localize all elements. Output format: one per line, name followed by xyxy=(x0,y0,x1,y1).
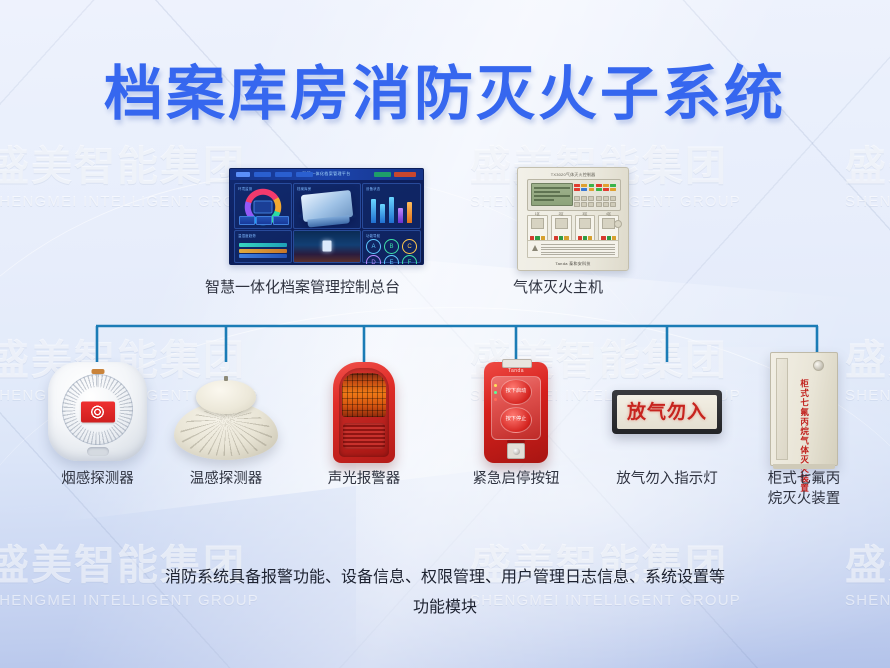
alarm-speaker-grille xyxy=(343,423,385,449)
dashboard-panel-bars: 设备状态 xyxy=(362,183,421,229)
smoke-detector-label xyxy=(81,401,115,422)
smoke-detector-base-clip xyxy=(87,447,109,456)
page-title: 档案库房消防灭火子系统 xyxy=(0,46,890,131)
emergency-button-bracket xyxy=(502,359,532,368)
alarm-led-panel xyxy=(342,373,386,417)
heat-detector-body xyxy=(174,376,278,460)
gas-control-panel: TX3020气体灭火控制器 xyxy=(517,167,629,271)
console-caption: 智慧一体化档案管理控制总台 xyxy=(205,276,400,297)
smoke-detector-led xyxy=(91,369,104,374)
heat-detector-fins xyxy=(180,408,272,456)
caption-sound-light-alarm: 声光报警器 xyxy=(313,470,415,490)
footer-line-2: 功能模块 xyxy=(0,593,890,623)
caption-emergency-button: 紧急启停按钮 xyxy=(464,470,568,490)
lcd-display xyxy=(531,183,573,206)
emergency-button-body: Tanda 按下启动 按下停止 xyxy=(484,362,548,463)
dashboard-panel-3d: 档案库房 xyxy=(293,183,361,229)
gauge-center-value xyxy=(254,200,273,213)
bar-chart xyxy=(369,191,414,223)
poster-canvas: 盛美智能集团 SHENGMEI INTELLIGENT GROUP 盛美智能集团… xyxy=(0,0,890,668)
dashboard-panel-video xyxy=(293,230,361,263)
cabinet-door-edge xyxy=(776,358,788,460)
security-monitor-icon[interactable]: C xyxy=(402,239,417,254)
status-led-row xyxy=(574,184,616,191)
environment-icon[interactable]: D xyxy=(366,255,381,265)
emergency-button-keylock[interactable] xyxy=(507,443,525,459)
emergency-start-button[interactable]: 按下启动 xyxy=(500,379,532,405)
indicator-lamp-body: 放气勿入 xyxy=(612,390,722,434)
dashboard-topbar: 智慧一体化档案管理平台 xyxy=(230,169,423,180)
footer-line-1: 消防系统具备报警功能、设备信息、权限管理、用户管理日志信息、系统设置等 xyxy=(0,563,890,593)
device-emergency-button: Tanda 按下启动 按下停止 xyxy=(484,362,548,463)
indicator-lamp-face: 放气勿入 xyxy=(617,395,717,429)
dashboard-panel-wave: 温湿度趋势 xyxy=(234,230,292,263)
device-smoke-detector xyxy=(48,362,147,461)
alarm-body xyxy=(333,362,395,463)
lcd-and-keys xyxy=(527,179,621,211)
caption-cabinet-extinguisher: 柜式七氟丙 烷灭火装置 xyxy=(748,470,860,509)
caption-release-indicator-lamp: 放气勿入指示灯 xyxy=(600,470,734,490)
connector-tree xyxy=(0,300,890,370)
icon-grid: A B C D E F xyxy=(365,233,418,260)
device-sound-light-alarm xyxy=(333,362,395,463)
fire-system-icon[interactable]: B xyxy=(384,239,399,254)
dashboard-panel-icons: 功能导航 A B C D E F xyxy=(362,230,421,263)
server-3d-model xyxy=(301,190,354,222)
cabinet-base xyxy=(773,464,835,469)
smoke-detector-body xyxy=(48,362,147,461)
gas-host-model-label: TX3020气体灭火控制器 xyxy=(518,172,628,178)
door-access-icon[interactable]: A xyxy=(366,239,381,254)
gas-host-brand: Tanda 泰和安科技 xyxy=(518,261,628,267)
cabinet-lock-icon[interactable] xyxy=(813,360,824,371)
control-console-image: 智慧一体化档案管理平台 环境监测 档案库房 xyxy=(229,168,422,263)
caption-heat-detector: 温感探测器 xyxy=(174,470,278,490)
footer-description: 消防系统具备报警功能、设备信息、权限管理、用户管理日志信息、系统设置等 功能模块 xyxy=(0,563,890,622)
heat-detector-pin xyxy=(224,376,228,381)
emergency-stop-button[interactable]: 按下停止 xyxy=(500,407,532,433)
warning-plate xyxy=(527,240,619,258)
gas-host-caption: 气体灭火主机 xyxy=(513,276,603,297)
gas-host-image: TX3020气体灭火控制器 xyxy=(517,167,627,269)
emergency-button-brand: Tanda xyxy=(484,368,548,374)
area-chart xyxy=(239,236,287,258)
warning-text-lines xyxy=(541,244,615,255)
cabinet-body: 柜式七氟丙烷气体灭火装置 xyxy=(770,352,838,466)
panel-knob[interactable] xyxy=(614,220,622,228)
asset-icon[interactable]: E xyxy=(384,255,399,265)
heat-detector-cap xyxy=(196,380,256,414)
caption-smoke-detector: 烟感探测器 xyxy=(48,470,147,490)
emergency-button-indicators xyxy=(494,384,497,401)
device-release-indicator-lamp: 放气勿入 xyxy=(612,390,722,434)
indicator-lamp-text: 放气勿入 xyxy=(627,403,707,422)
device-cabinet-extinguisher: 柜式七氟丙烷气体灭火装置 xyxy=(770,352,838,466)
device-heat-detector xyxy=(174,376,278,460)
dashboard-panel-gauge: 环境监测 xyxy=(234,183,292,229)
settings-icon[interactable]: F xyxy=(402,255,417,265)
warning-triangle-icon xyxy=(532,245,538,251)
dashboard-screen: 智慧一体化档案管理平台 环境监测 档案库房 xyxy=(229,168,424,265)
keypad[interactable] xyxy=(574,196,616,207)
video-thumbnail xyxy=(294,231,360,262)
